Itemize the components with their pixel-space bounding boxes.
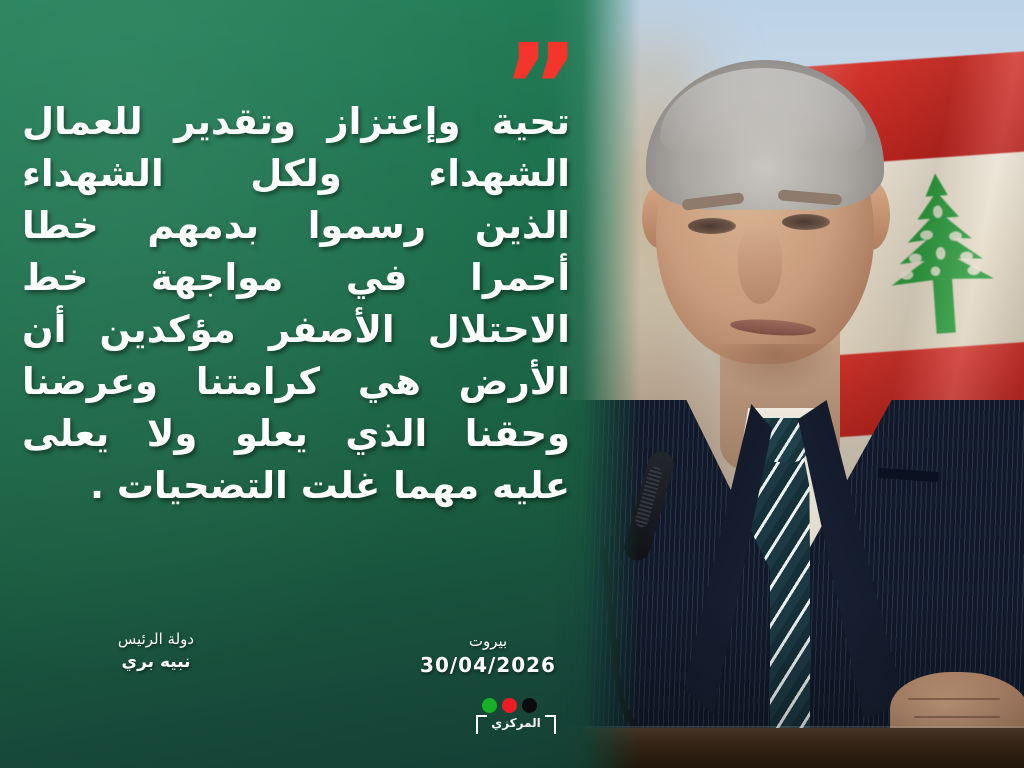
quote-line: الاحتلال الأصفر مؤكدين أن — [22, 304, 570, 356]
speaker-eye-left — [688, 218, 736, 234]
logo-dot-red-icon — [502, 698, 517, 713]
quote-line: الأرض هي كرامتنا وعرضنا — [22, 356, 570, 408]
place-label: بيروت — [378, 630, 598, 652]
speaker-chin-shadow — [710, 344, 840, 394]
logo-dot-green-icon — [482, 698, 497, 713]
quote-line: عليه مهما غلت التضحيات . — [22, 460, 570, 512]
quote-line: الشهداء ولكل الشهداء — [22, 148, 570, 200]
logo-dots — [482, 698, 537, 713]
logo-dot-black-icon — [522, 698, 537, 713]
publisher-logo[interactable]: المركزي — [468, 698, 564, 744]
speaker-nose — [738, 226, 782, 304]
quote-card: ” تحية وإعتزاز وتقدير للعمال الشهداء ولك… — [0, 0, 1024, 768]
place-date-block: بيروت 30/04/2026 — [378, 630, 598, 678]
quote-text: تحية وإعتزاز وتقدير للعمال الشهداء ولكل … — [22, 96, 570, 512]
hand-finger-crease — [914, 716, 1000, 718]
signature-block: دولة الرئيس نبيه بري — [46, 628, 266, 674]
logo-wordmark: المركزي — [468, 716, 564, 730]
quote-line: وحقنا الذي يعلو ولا يعلى — [22, 408, 570, 460]
speaker-eye-right — [782, 214, 830, 230]
signature-title: دولة الرئيس — [46, 628, 266, 650]
hand-finger-crease — [908, 698, 1000, 700]
quote-line: تحية وإعتزاز وتقدير للعمال — [22, 96, 570, 148]
signature-name: نبيه بري — [46, 650, 266, 674]
quote-line: أحمرا في مواجهة خط — [22, 252, 570, 304]
quote-line: الذين رسموا بدمهم خطا — [22, 200, 570, 252]
date-label: 30/04/2026 — [378, 652, 598, 678]
